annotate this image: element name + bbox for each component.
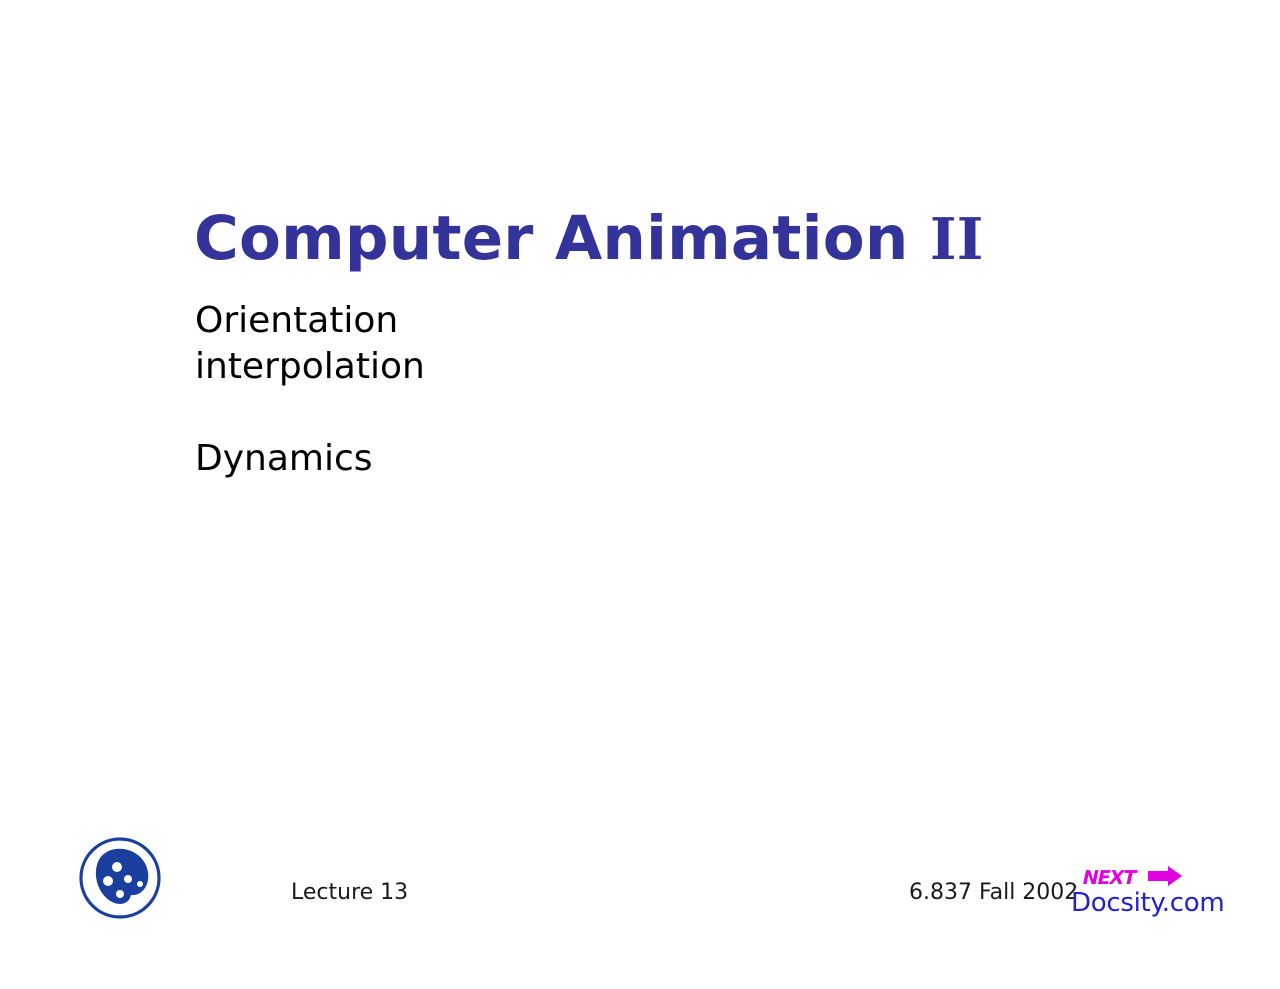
course-term-label: 6.837 Fall 2002 [909, 880, 1078, 905]
svg-text:NEXT: NEXT [1080, 866, 1138, 889]
docsity-watermark: NEXT Docsity.com [1070, 862, 1215, 920]
body-line-spacer [195, 390, 425, 436]
body-line-interpolation: interpolation [195, 344, 425, 390]
page-title: Computer Animation II [194, 205, 984, 273]
docsity-domain-text: Docsity.com [1071, 888, 1224, 918]
course-logo-icon [76, 834, 164, 922]
page-title-numeral: II [930, 206, 984, 273]
body-line-orientation: Orientation [195, 298, 425, 344]
presentation-slide: Computer Animation II Orientation interp… [0, 0, 1280, 989]
page-title-text: Computer Animation [194, 203, 930, 274]
slide-body: Orientation interpolation Dynamics [195, 298, 425, 482]
lecture-label: Lecture 13 [291, 880, 408, 905]
body-line-dynamics: Dynamics [195, 436, 425, 482]
